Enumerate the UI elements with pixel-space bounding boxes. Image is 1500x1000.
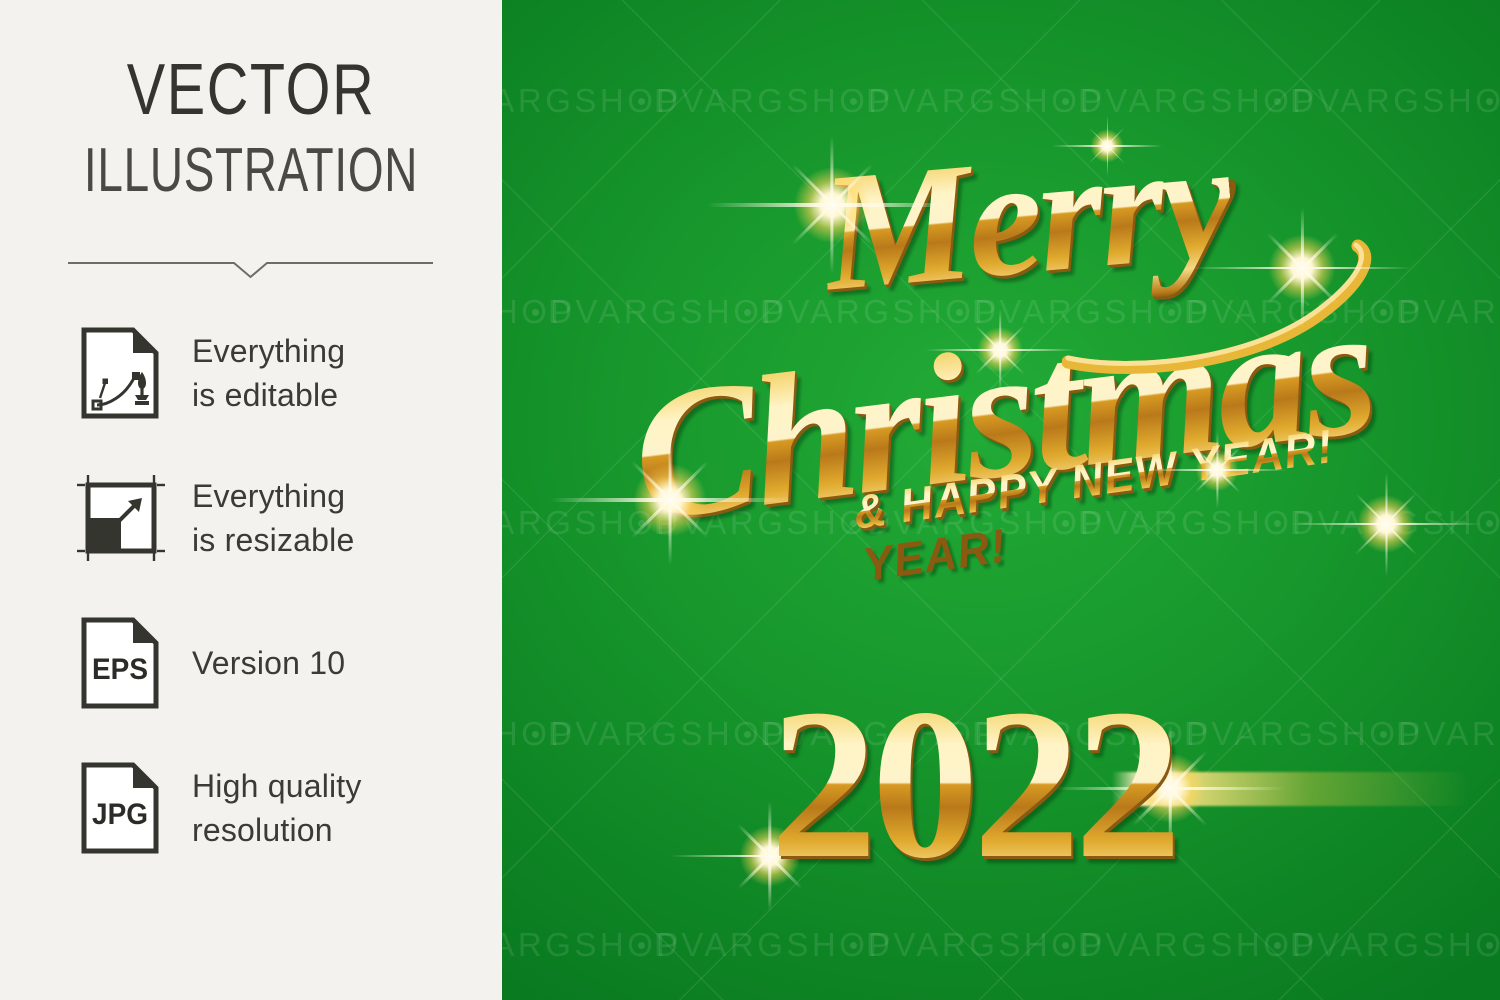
headline-block: VECTOR ILLUSTRATION <box>0 52 502 206</box>
poster-canvas: VECTOR ILLUSTRATION <box>0 0 1500 1000</box>
list-item-label: Everything is resizable <box>192 474 354 562</box>
eps-file-icon: EPS <box>70 617 170 709</box>
jpg-file-icon: JPG <box>70 762 170 854</box>
watermark-text: DVARGSHOP <box>502 715 576 753</box>
watermark-text: DVARGSHOP <box>502 293 576 331</box>
watermark-text: DVARGSHOP <box>1396 293 1500 331</box>
list-item-label-line1: Version 10 <box>192 641 345 685</box>
watermark-text: DVARGSHOP <box>1396 715 1500 753</box>
list-item-label: High quality resolution <box>192 764 362 852</box>
watermark-text: DVARGSHOP <box>1290 82 1500 120</box>
jpg-icon-svg: JPG <box>81 762 159 854</box>
sparkle-core <box>1358 496 1415 553</box>
list-item-label-line2: is resizable <box>192 518 354 562</box>
watermark-text: DVARGSHOP <box>502 926 682 964</box>
artwork-panel: DVARGSHOPDVARGSHOPDVARGSHOPDVARGSHOPDVAR… <box>502 0 1500 1000</box>
list-item-label-line1: High quality <box>192 764 362 808</box>
resizable-icon-svg <box>74 470 166 566</box>
list-item: Everything is editable <box>0 300 502 445</box>
watermark-text: DVARGSHOP <box>1184 715 1424 753</box>
editable-document-pen-icon <box>70 327 170 419</box>
list-item: JPG High quality resolution <box>0 735 502 880</box>
list-item-label: Everything is editable <box>192 329 345 417</box>
info-panel: VECTOR ILLUSTRATION <box>0 0 502 1000</box>
list-item-label-line1: Everything <box>192 474 354 518</box>
watermark-text: DVARGSHOP <box>866 926 1106 964</box>
list-item-label: Version 10 <box>192 641 345 685</box>
page-title: VECTOR <box>50 52 452 128</box>
year-face: 2022 <box>770 664 1176 903</box>
list-item: Everything is resizable <box>0 445 502 590</box>
sparkle-ray <box>1355 493 1417 555</box>
resizable-crop-arrow-icon <box>70 470 170 566</box>
list-item-label-line1: Everything <box>192 329 345 373</box>
watermark-text: DVARGSHOP <box>1078 926 1318 964</box>
watermark-text: DVARGSHOP <box>502 82 682 120</box>
list-item: EPS Version 10 <box>0 590 502 735</box>
divider-svg <box>68 255 433 281</box>
list-item-label-line2: resolution <box>192 808 362 852</box>
eps-label: EPS <box>92 653 148 686</box>
watermark-text: DVARGSHOP <box>1290 926 1500 964</box>
page-subtitle: ILLUSTRATION <box>65 136 436 206</box>
artwork-year: 2022 2022 2022 <box>770 676 1176 891</box>
feature-list: Everything is editable <box>0 300 502 880</box>
watermark-text: DVARGSHOP <box>654 926 894 964</box>
watermark-text: DVARGSHOP <box>654 82 894 120</box>
chevron-down-divider-icon <box>68 255 433 281</box>
sparkle-ray <box>1355 493 1417 555</box>
editable-icon-svg <box>81 327 159 419</box>
eps-icon-svg: EPS <box>81 617 159 709</box>
jpg-label: JPG <box>92 798 148 831</box>
watermark-text: DVARGSHOP <box>548 715 788 753</box>
watermark-text: DVARGSHOP <box>548 293 788 331</box>
sparkle-ray <box>1385 472 1387 577</box>
watermark-text: DVARGSHOP <box>866 82 1106 120</box>
list-item-label-line2: is editable <box>192 373 345 417</box>
